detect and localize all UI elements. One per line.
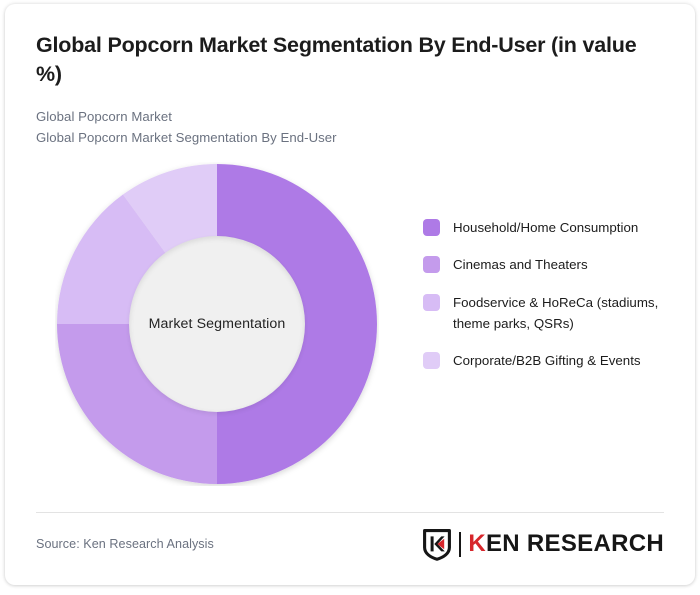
donut-chart: Market Segmentation [55,162,379,486]
footer-divider [36,512,664,513]
subtitle-market: Global Popcorn Market [36,107,664,127]
chart-footer: Source: Ken Research Analysis KEN RESEAR… [36,525,664,563]
page-title: Global Popcorn Market Segmentation By En… [36,31,664,88]
subtitle-block: Global Popcorn Market Global Popcorn Mar… [36,107,664,148]
source-text: Source: Ken Research Analysis [36,537,214,551]
logo-divider [459,532,461,557]
chart-header: Global Popcorn Market Segmentation By En… [36,4,664,148]
legend-label: Foodservice & HoReCa (stadiums, theme pa… [453,293,678,334]
legend-label: Household/Home Consumption [453,218,638,239]
logo-rest: EN RESEARCH [486,530,664,557]
chart-legend: Household/Home ConsumptionCinemas and Th… [423,218,678,372]
subtitle-segmentation: Global Popcorn Market Segmentation By En… [36,128,664,148]
legend-item[interactable]: Cinemas and Theaters [423,255,678,276]
chart-card: Global Popcorn Market Segmentation By En… [5,4,695,585]
shield-logo-icon [422,528,452,561]
donut-center: Market Segmentation [129,236,305,412]
legend-swatch-icon [423,294,440,311]
legend-label: Cinemas and Theaters [453,255,588,276]
chart-body: Market Segmentation Household/Home Consu… [36,162,664,492]
legend-swatch-icon [423,219,440,236]
donut-center-label: Market Segmentation [149,316,286,332]
logo-k: K [468,530,486,557]
legend-item[interactable]: Household/Home Consumption [423,218,678,239]
legend-item[interactable]: Corporate/B2B Gifting & Events [423,351,678,372]
logo-wordmark: KEN RESEARCH [468,532,664,556]
legend-item[interactable]: Foodservice & HoReCa (stadiums, theme pa… [423,293,678,334]
legend-swatch-icon [423,256,440,273]
legend-label: Corporate/B2B Gifting & Events [453,351,641,372]
legend-swatch-icon [423,352,440,369]
ken-research-logo: KEN RESEARCH [422,528,664,561]
